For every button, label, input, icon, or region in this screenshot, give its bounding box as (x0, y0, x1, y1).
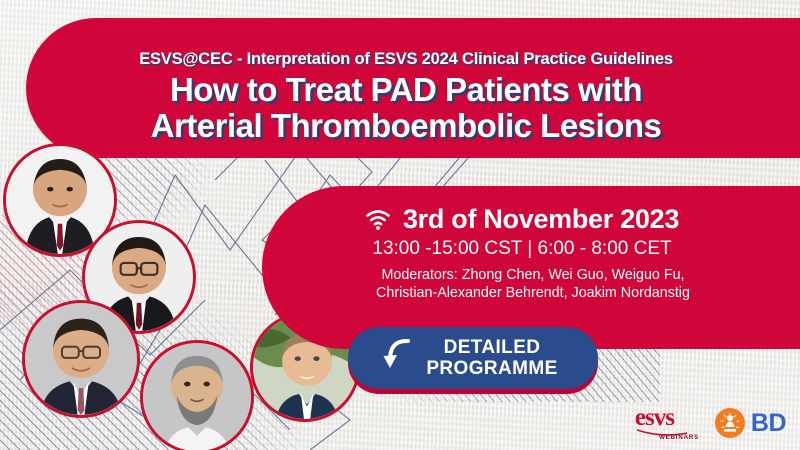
event-date: 3rd of November 2023 (403, 204, 679, 235)
bd-logo: BD (715, 408, 786, 438)
portrait-photo-3 (25, 303, 137, 415)
detailed-programme-button[interactable]: DETAILED PROGRAMME (348, 327, 598, 389)
portrait-speaker-4 (140, 340, 254, 450)
esvs-webinars-subtitle: WEBINARS (659, 434, 699, 441)
moderators-line-1: Moderators: Zhong Chen, Wei Guo, Weiguo … (288, 266, 778, 284)
wifi-icon (365, 209, 391, 230)
detailed-programme-label: DETAILED PROGRAMME (426, 337, 569, 379)
banner-title-line-1: How to Treat PAD Patients with (26, 72, 786, 108)
event-info-panel: 3rd of November 2023 13:00 -15:00 CST | … (262, 186, 800, 349)
bd-wordmark: BD (751, 409, 786, 438)
portrait-speaker-3 (22, 300, 140, 418)
esvs-wordmark: esvs (635, 404, 674, 432)
event-date-row: 3rd of November 2023 (262, 204, 782, 235)
logo-row: esvs WEBINARS (635, 404, 786, 442)
webinar-promo-banner: ESVS@CEC - Interpretation of ESVS 2024 C… (0, 0, 800, 450)
esvs-webinars-logo: esvs WEBINARS (635, 404, 699, 442)
banner-kicker: ESVS@CEC - Interpretation of ESVS 2024 C… (26, 50, 786, 69)
portrait-photo-4 (143, 343, 251, 450)
headline-banner: ESVS@CEC - Interpretation of ESVS 2024 C… (26, 18, 800, 158)
curved-down-arrow-icon (382, 336, 416, 380)
cta-label-line-2: PROGRAMME (426, 358, 557, 379)
banner-title: How to Treat PAD Patients with Arterial … (26, 72, 786, 144)
sunburst-icon (715, 408, 745, 438)
cta-label-line-1: DETAILED (426, 337, 557, 358)
event-moderators: Moderators: Zhong Chen, Wei Guo, Weiguo … (288, 266, 778, 302)
banner-title-line-2: Arterial Thromboembolic Lesions (26, 108, 786, 144)
event-time: 13:00 -15:00 CST | 6:00 - 8:00 CET (262, 238, 782, 260)
moderators-line-2: Christian-Alexander Behrendt, Joakim Nor… (288, 284, 778, 302)
